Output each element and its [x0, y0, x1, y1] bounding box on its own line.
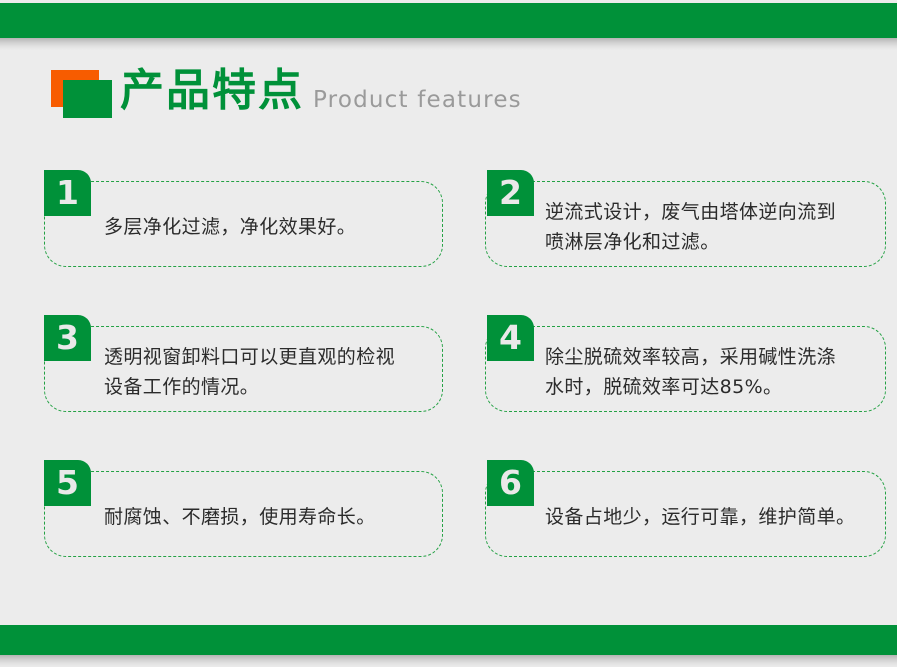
- feature-text-line: 除尘脱硫效率较高，采用碱性洗涤: [545, 342, 880, 372]
- feature-text-line: 耐腐蚀、不磨损，使用寿命长。: [104, 502, 434, 532]
- feature-text: 逆流式设计，废气由塔体逆向流到 喷淋层净化和过滤。: [545, 197, 880, 257]
- feature-number-badge: 6: [487, 460, 534, 506]
- feature-number-badge: 3: [44, 315, 91, 361]
- feature-text-line: 逆流式设计，废气由塔体逆向流到: [545, 197, 880, 227]
- top-green-bar: [0, 0, 897, 50]
- page-subtitle: Product features: [313, 85, 522, 115]
- page-title: 产品特点: [120, 63, 304, 119]
- bottom-bar-shadow: [0, 655, 897, 667]
- feature-number-badge: 1: [44, 170, 91, 216]
- feature-list: 1 多层净化过滤，净化效果好。 2 逆流式设计，废气由塔体逆向流到 喷淋层净化和…: [0, 170, 897, 605]
- feature-text: 耐腐蚀、不磨损，使用寿命长。: [104, 502, 434, 532]
- feature-text-line: 水时，脱硫效率可达85%。: [545, 372, 880, 402]
- logo-mark: [51, 70, 113, 118]
- green-square-icon: [63, 80, 112, 118]
- page-header: 产品特点 Product features: [0, 60, 897, 130]
- bottom-bar-gap: [0, 618, 897, 625]
- feature-text: 多层净化过滤，净化效果好。: [104, 212, 434, 242]
- feature-text-line: 设备占地少，运行可靠，维护简单。: [545, 502, 880, 532]
- top-bar-shadow: [0, 38, 897, 50]
- feature-number-badge: 5: [44, 460, 91, 506]
- feature-row: 3 透明视窗卸料口可以更直观的检视 设备工作的情况。 4 除尘脱硫效率较高，采用…: [0, 315, 897, 460]
- feature-text: 除尘脱硫效率较高，采用碱性洗涤 水时，脱硫效率可达85%。: [545, 342, 880, 402]
- feature-text-line: 透明视窗卸料口可以更直观的检视: [104, 342, 434, 372]
- feature-number-badge: 4: [487, 315, 534, 361]
- feature-text: 设备占地少，运行可靠，维护简单。: [545, 502, 880, 532]
- feature-number-badge: 2: [487, 170, 534, 216]
- feature-text: 透明视窗卸料口可以更直观的检视 设备工作的情况。: [104, 342, 434, 402]
- feature-row: 1 多层净化过滤，净化效果好。 2 逆流式设计，废气由塔体逆向流到 喷淋层净化和…: [0, 170, 897, 315]
- top-bar-fill: [0, 3, 897, 38]
- feature-text-line: 多层净化过滤，净化效果好。: [104, 212, 434, 242]
- feature-text-line: 设备工作的情况。: [104, 372, 434, 402]
- bottom-green-bar: [0, 618, 897, 667]
- feature-text-line: 喷淋层净化和过滤。: [545, 227, 880, 257]
- feature-row: 5 耐腐蚀、不磨损，使用寿命长。 6 设备占地少，运行可靠，维护简单。: [0, 460, 897, 605]
- bottom-bar-fill: [0, 625, 897, 655]
